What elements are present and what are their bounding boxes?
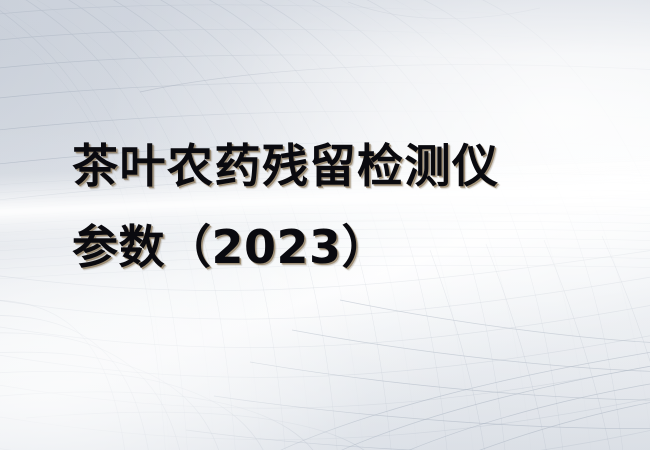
page-title: 茶叶农药残留检测仪 参数（2023） — [72, 126, 592, 288]
title-line-1: 茶叶农药残留检测仪 — [72, 126, 592, 207]
title-line-2: 参数（2023） — [72, 207, 592, 288]
title-slide: 茶叶农药残留检测仪 参数（2023） — [0, 0, 650, 450]
